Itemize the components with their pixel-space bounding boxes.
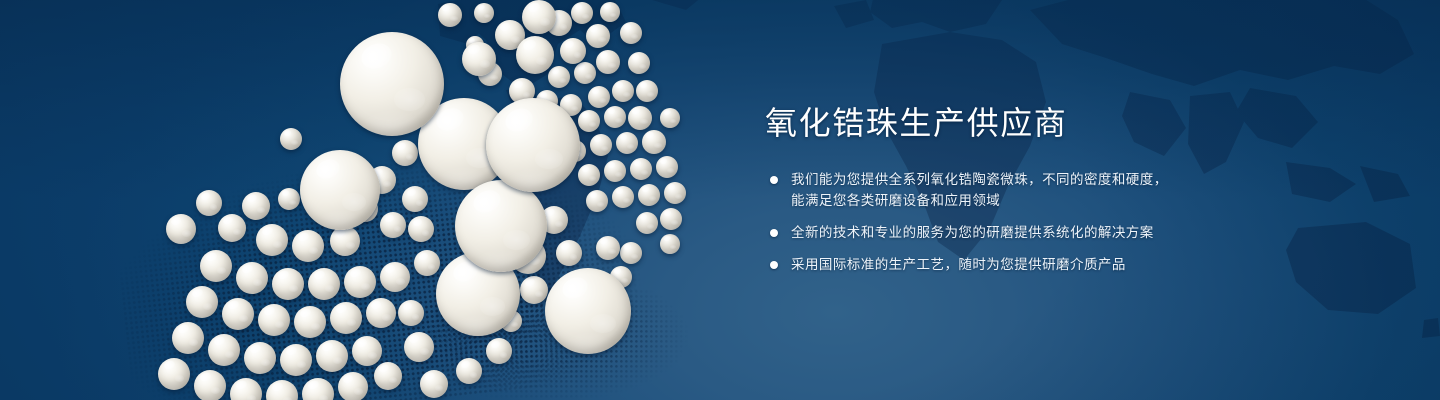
ceramic-bead [636,80,658,102]
ceramic-bead [604,160,626,182]
ceramic-bead [574,62,596,84]
ceramic-bead [656,156,678,178]
ceramic-bead [590,134,612,156]
ceramic-bead [660,208,682,230]
ceramic-bead [414,250,440,276]
ceramic-bead [186,286,218,318]
ceramic-bead [402,186,428,212]
hero-banner: 氧化锆珠生产供应商 我们能为您提供全系列氧化锆陶瓷微珠，不同的密度和硬度，能满足… [0,0,1440,400]
ceramic-bead [548,66,570,88]
feature-list-item: 采用国际标准的生产工艺，随时为您提供研磨介质产品 [765,254,1235,275]
ceramic-bead [344,266,376,298]
ceramic-bead [352,336,382,366]
ceramic-bead [308,268,340,300]
ceramic-bead [218,214,246,242]
ceramic-bead [462,42,496,76]
ceramic-bead [571,2,593,24]
banner-copy: 氧化锆珠生产供应商 我们能为您提供全系列氧化锆陶瓷微珠，不同的密度和硬度，能满足… [765,104,1235,275]
ceramic-bead [486,98,580,192]
ceramic-bead [338,372,368,400]
ceramic-bead [630,158,652,180]
ceramic-bead [366,298,396,328]
ceramic-bead [172,322,204,354]
page-title: 氧化锆珠生产供应商 [765,104,1235,143]
ceramic-bead [596,236,620,260]
ceramic-bead [208,334,240,366]
ceramic-bead [616,132,638,154]
ceramic-bead [340,32,444,136]
ceramic-bead [578,110,600,132]
ceramic-bead [660,234,680,254]
ceramic-bead [166,214,196,244]
ceramic-bead [586,24,610,48]
ceramic-bead [596,50,620,74]
ceramic-bead [330,226,360,256]
ceramic-bead [280,128,302,150]
ceramic-bead [586,190,608,212]
ceramic-bead [316,340,348,372]
ceramic-bead [522,0,556,34]
ceramic-bead [628,52,650,74]
ceramic-bead [244,342,276,374]
ceramic-bead [258,304,290,336]
ceramic-bead [196,190,222,216]
ceramic-bead [620,242,642,264]
ceramic-bead [620,22,642,44]
ceramic-bead [588,86,610,108]
ceramic-bead [398,300,424,326]
feature-list-item-line: 采用国际标准的生产工艺，随时为您提供研磨介质产品 [791,254,1235,275]
ceramic-bead [294,306,326,338]
feature-list-item-line: 全新的技术和专业的服务为您的研磨提供系统化的解决方案 [791,222,1235,243]
ceramic-bead [222,298,254,330]
ceramic-bead [660,108,680,128]
ceramic-bead [194,370,226,400]
ceramic-bead [545,268,631,354]
feature-list: 我们能为您提供全系列氧化锆陶瓷微珠，不同的密度和硬度，能满足您各类研磨设备和应用… [765,169,1235,275]
ceramic-bead [404,332,434,362]
ceramic-bead [628,106,652,130]
ceramic-bead [200,250,232,282]
ceramic-bead [600,2,620,22]
ceramic-bead [272,268,304,300]
bullet-dot-icon [770,176,778,184]
ceramic-bead [158,358,190,390]
ceramic-bead [280,344,312,376]
ceramic-bead [408,216,434,242]
ceramic-bead [638,184,660,206]
ceramic-bead [520,276,548,304]
feature-list-item: 我们能为您提供全系列氧化锆陶瓷微珠，不同的密度和硬度，能满足您各类研磨设备和应用… [765,169,1235,211]
ceramic-bead [456,358,482,384]
ceramic-bead [516,36,554,74]
feature-list-item-line: 能满足您各类研磨设备和应用领域 [791,190,1235,211]
ceramic-bead [604,106,626,128]
ceramic-bead [236,262,268,294]
ceramic-bead [556,240,582,266]
ceramic-bead [392,140,418,166]
ceramic-bead [292,230,324,262]
ceramic-bead [474,3,494,23]
ceramic-bead [420,370,448,398]
ceramic-bead [374,362,402,390]
ceramic-bead [278,188,300,210]
ceramic-bead [612,80,634,102]
feature-list-item-line: 我们能为您提供全系列氧化锆陶瓷微珠，不同的密度和硬度， [791,169,1235,190]
ceramic-bead [455,180,547,272]
bullet-dot-icon [770,261,778,269]
ceramic-bead [560,38,586,64]
ceramic-bead [380,212,406,238]
ceramic-bead [578,164,600,186]
ceramic-bead [636,212,658,234]
ceramic-bead [486,338,512,364]
ceramic-bead [642,130,666,154]
ceramic-bead [438,3,462,27]
ceramic-bead [612,186,634,208]
ceramic-bead [242,192,270,220]
ceramic-bead [330,302,362,334]
ceramic-bead [664,182,686,204]
ceramic-bead [300,150,380,230]
ceramic-bead [256,224,288,256]
ceramic-bead [380,262,410,292]
bullet-dot-icon [770,229,778,237]
feature-list-item: 全新的技术和专业的服务为您的研磨提供系统化的解决方案 [765,222,1235,243]
